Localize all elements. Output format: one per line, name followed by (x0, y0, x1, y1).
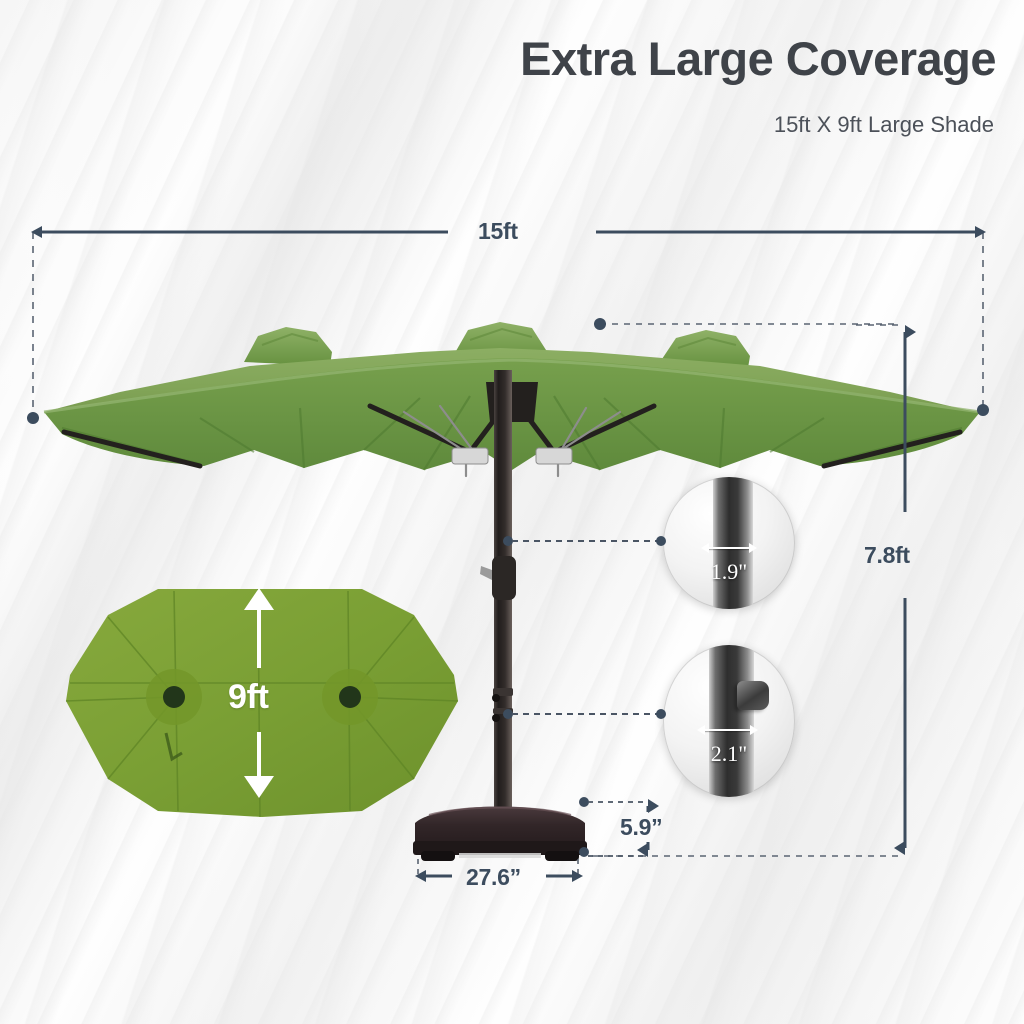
dimension-label-height: 7.8ft (864, 542, 910, 569)
ext-dot-right (977, 404, 989, 416)
leader-dot-pole-lower (503, 709, 513, 719)
dimension-label-depth: 9ft (228, 678, 269, 717)
dimension-label-base-height: 5.9” (620, 814, 662, 841)
leader-dot-circle-lower (656, 709, 666, 719)
leader-dot-circle-upper (656, 536, 666, 546)
ext-dot-left (27, 412, 39, 424)
leader-dot-pole-upper (503, 536, 513, 546)
ref-dot-canopy-top (594, 318, 606, 330)
dimension-label-base-width: 27.6” (466, 864, 521, 891)
ref-dot-base-bottom (579, 847, 589, 857)
ref-dot-base-top (579, 797, 589, 807)
dimension-label-width: 15ft (478, 218, 518, 245)
infographic-canvas: Extra Large Coverage 15ft X 9ft Large Sh… (0, 0, 1024, 1024)
